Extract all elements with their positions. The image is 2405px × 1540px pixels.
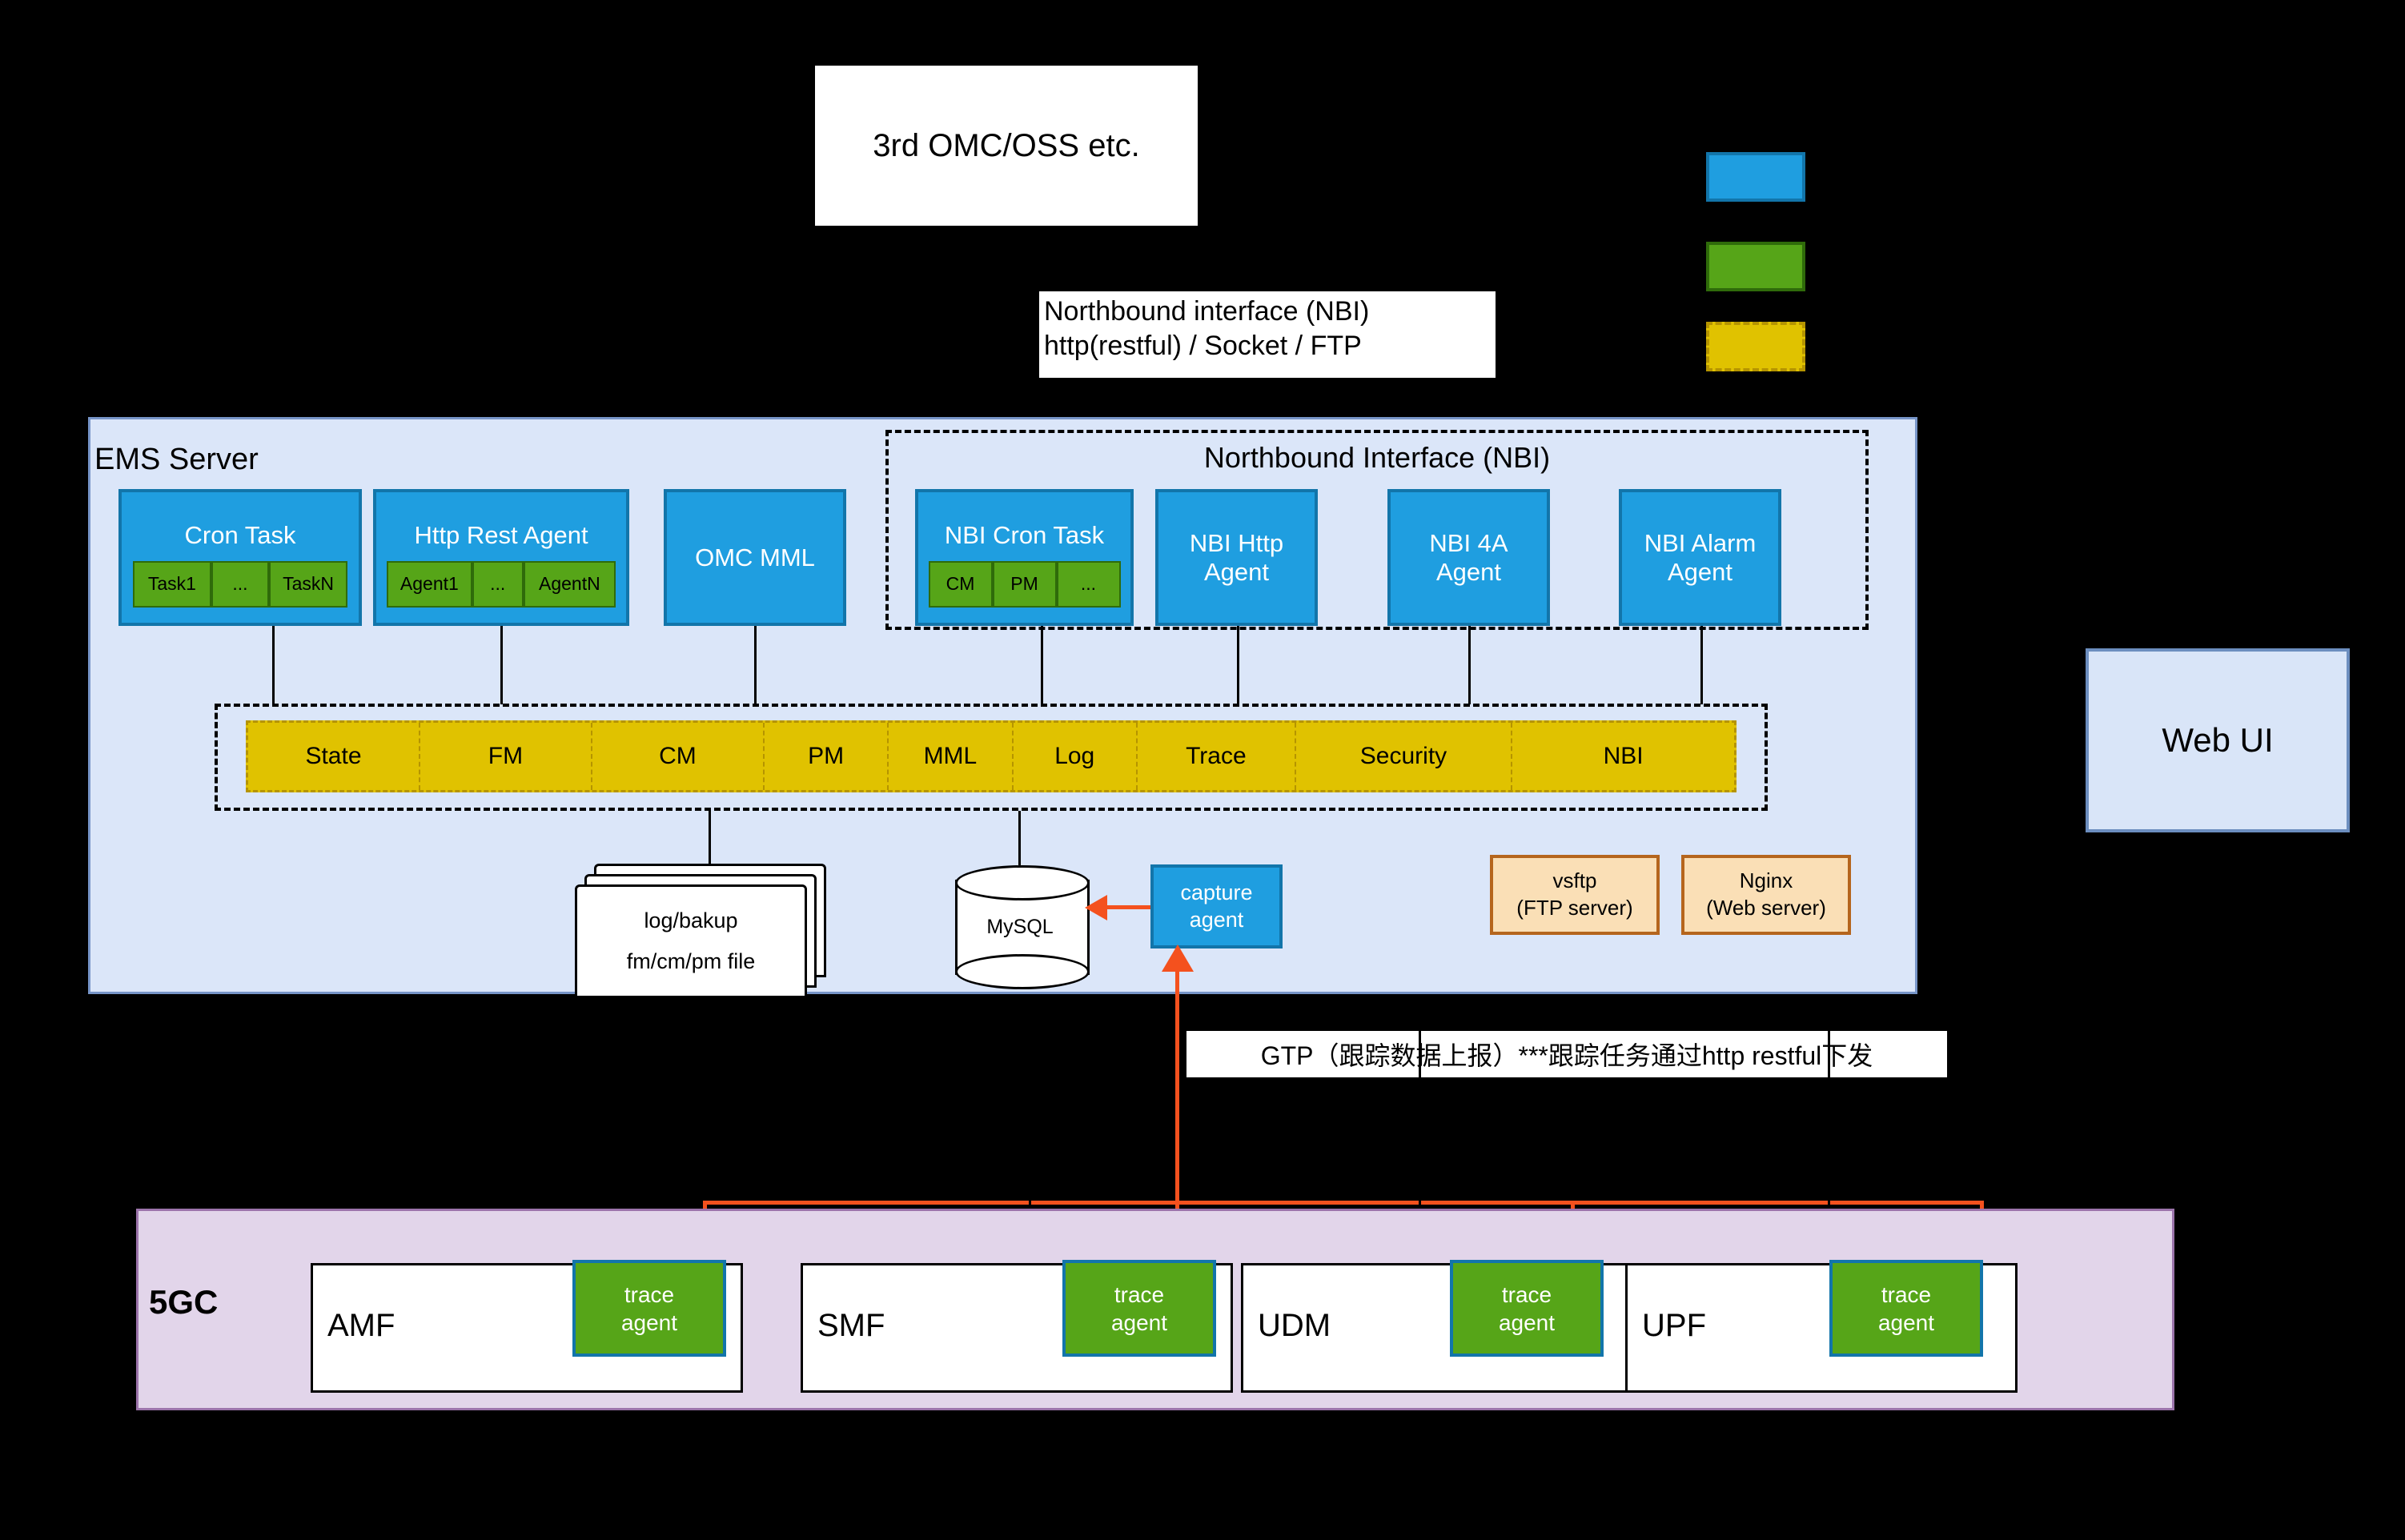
arrow-capture-to-mysql-line: [1105, 905, 1151, 909]
capture-agent-box[interactable]: capture agent: [1150, 864, 1283, 948]
trace-agent-amf[interactable]: trace agent: [572, 1260, 726, 1357]
connector-omc-mml-to-bus: [754, 626, 757, 704]
component-nbi-cron-task[interactable]: NBI Cron Task CM PM ...: [915, 489, 1134, 626]
component-nbi-4a-agent[interactable]: NBI 4A Agent: [1387, 489, 1550, 626]
capture-agent-line1: capture: [1180, 880, 1252, 907]
nbi-cron-task-cell: ...: [1057, 561, 1121, 608]
nf-label-amf: AMF: [327, 1308, 395, 1344]
component-nbi-http-agent[interactable]: NBI Http Agent: [1155, 489, 1318, 626]
bus-segment-trace[interactable]: Trace: [1138, 723, 1296, 790]
web-ui-label: Web UI: [2162, 721, 2273, 760]
connector-nbi-http-agent-to-bus: [1237, 626, 1239, 704]
cron-task-cell: TaskN: [269, 561, 347, 608]
component-cron-task[interactable]: Cron Task Task1 ... TaskN: [118, 489, 362, 626]
blue-swatch-icon: [1706, 152, 1805, 202]
orange-trunk-arrowhead: [1162, 944, 1194, 972]
nginx-server-box[interactable]: Nginx (Web server): [1681, 855, 1851, 935]
nginx-line2: (Web server): [1706, 895, 1826, 922]
bus-segment-pm[interactable]: PM: [765, 723, 889, 790]
trace-agent-upf-line1: trace: [1881, 1281, 1931, 1309]
http-rest-agent-cell: Agent1: [387, 561, 472, 608]
connector-nbi-4a-agent-to-bus: [1468, 626, 1471, 704]
service-bus: State FM CM PM MML Log Trace Security NB…: [246, 720, 1736, 792]
file-store-line2: fm/cm/pm file: [627, 941, 756, 982]
connector-nbi-cron-task-to-bus: [1041, 626, 1043, 704]
orange-trunk-capture-to-core: [1175, 948, 1179, 1203]
component-nbi-http-agent-label: NBI Http Agent: [1158, 529, 1315, 587]
gtp-annotation: GTP（跟踪数据上报）***跟踪任务通过http restful下发: [1186, 1031, 1947, 1077]
connector-cron-task-to-bus: [272, 626, 275, 704]
component-omc-mml[interactable]: OMC MML: [664, 489, 846, 626]
connector-nbi-alarm-agent-to-bus: [1700, 626, 1703, 704]
trace-agent-amf-line1: trace: [624, 1281, 674, 1309]
file-store-sheet-front: log/bakup fm/cm/pm file: [575, 884, 807, 998]
green-swatch-icon: [1706, 242, 1805, 291]
connector-bus-to-database: [1018, 811, 1021, 865]
vsftp-line2: (FTP server): [1516, 895, 1632, 922]
connector-omc-to-ems: [1005, 226, 1007, 418]
component-omc-mml-label: OMC MML: [695, 543, 815, 572]
nf-label-udm: UDM: [1258, 1308, 1331, 1344]
vsftp-server-box[interactable]: vsftp (FTP server): [1490, 855, 1660, 935]
file-store-line1: log/bakup: [644, 900, 737, 941]
bus-segment-fm[interactable]: FM: [420, 723, 592, 790]
mysql-label-wrap: MySQL: [955, 865, 1085, 989]
trace-agent-udm-line2: agent: [1499, 1309, 1555, 1337]
capture-agent-line2: agent: [1190, 907, 1244, 934]
nf-label-upf: UPF: [1642, 1308, 1706, 1344]
trace-agent-smf-line1: trace: [1114, 1281, 1164, 1309]
http-rest-agent-cell: ...: [472, 561, 524, 608]
bus-segment-log[interactable]: Log: [1014, 723, 1138, 790]
component-nbi-alarm-agent[interactable]: NBI Alarm Agent: [1619, 489, 1781, 626]
ems-server-title: EMS Server: [94, 443, 259, 477]
nginx-line1: Nginx: [1740, 868, 1793, 895]
trace-agent-smf[interactable]: trace agent: [1062, 1260, 1216, 1357]
mysql-label: MySQL: [986, 916, 1053, 939]
bus-segment-state[interactable]: State: [248, 723, 420, 790]
component-nbi-4a-agent-label: NBI 4A Agent: [1391, 529, 1547, 587]
trace-agent-upf[interactable]: trace agent: [1829, 1260, 1983, 1357]
third-party-omc-oss-box: 3rd OMC/OSS etc.: [815, 66, 1198, 226]
connector-bus-to-file-store: [709, 811, 711, 865]
trace-agent-smf-line2: agent: [1111, 1309, 1167, 1337]
orange-distribution-bar: [703, 1201, 1984, 1205]
mysql-database: MySQL: [955, 865, 1085, 989]
bus-segment-mml[interactable]: MML: [889, 723, 1013, 790]
core-network-title: 5GC: [149, 1283, 218, 1321]
yellow-swatch-icon: [1706, 322, 1805, 371]
http-rest-agent-cell: AgentN: [524, 561, 616, 608]
cron-task-cell: ...: [211, 561, 269, 608]
nbi-protocol-label: Northbound interface (NBI) http(restful)…: [1039, 291, 1496, 378]
component-cron-task-label: Cron Task: [185, 521, 296, 550]
gtp-annotation-text: GTP（跟踪数据上报）***跟踪任务通过http restful下发: [1261, 1036, 1873, 1073]
nbi-protocol-line1: Northbound interface (NBI): [1044, 295, 1491, 329]
nbi-cron-task-cell: CM: [929, 561, 993, 608]
trace-agent-upf-line2: agent: [1878, 1309, 1934, 1337]
component-nbi-cron-task-label: NBI Cron Task: [945, 521, 1104, 550]
trace-agent-udm-line1: trace: [1502, 1281, 1552, 1309]
third-party-omc-oss-label: 3rd OMC/OSS etc.: [873, 128, 1139, 164]
bus-segment-cm[interactable]: CM: [592, 723, 765, 790]
nbi-cron-task-cell: PM: [993, 561, 1057, 608]
arrow-capture-to-mysql-head: [1085, 895, 1107, 920]
connector-http-rest-agent-to-bus: [500, 626, 503, 704]
bus-segment-nbi[interactable]: NBI: [1512, 723, 1734, 790]
vsftp-line1: vsftp: [1553, 868, 1597, 895]
nf-label-smf: SMF: [817, 1308, 885, 1344]
cron-task-cell: Task1: [133, 561, 211, 608]
component-nbi-alarm-agent-label: NBI Alarm Agent: [1622, 529, 1778, 587]
nbi-group-title: Northbound Interface (NBI): [885, 440, 1869, 475]
component-http-rest-agent-label: Http Rest Agent: [414, 521, 588, 550]
bus-segment-security[interactable]: Security: [1296, 723, 1512, 790]
trace-agent-udm[interactable]: trace agent: [1450, 1260, 1604, 1357]
nbi-protocol-line2: http(restful) / Socket / FTP: [1044, 329, 1491, 363]
web-ui-box[interactable]: Web UI: [2086, 648, 2350, 832]
trace-agent-amf-line2: agent: [621, 1309, 677, 1337]
component-http-rest-agent[interactable]: Http Rest Agent Agent1 ... AgentN: [373, 489, 629, 626]
